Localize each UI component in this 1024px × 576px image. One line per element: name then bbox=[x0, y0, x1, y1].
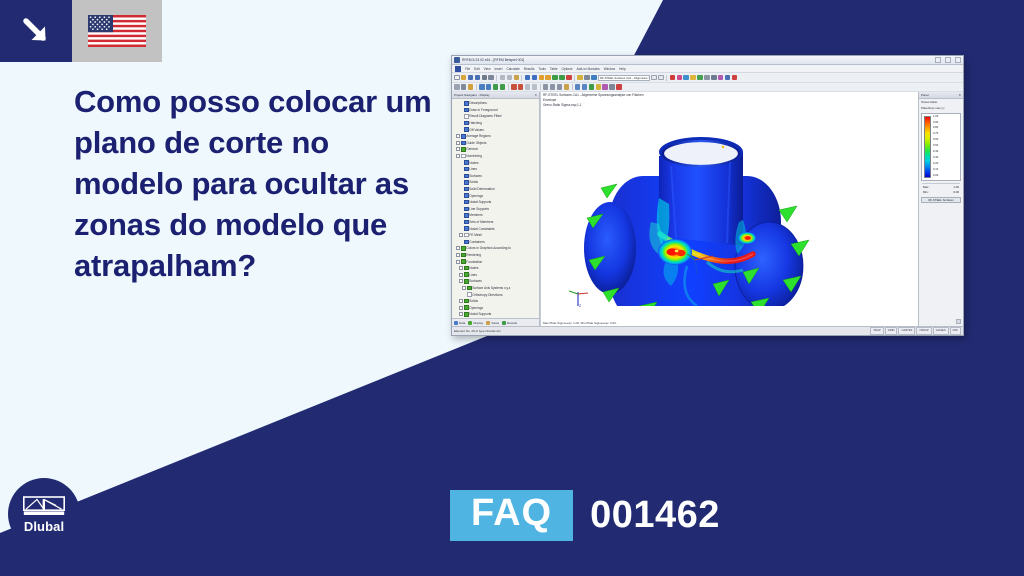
save-icon[interactable] bbox=[468, 75, 474, 81]
menu-item-file[interactable]: File bbox=[465, 67, 470, 71]
tree-item-label: Openings bbox=[469, 306, 483, 310]
svg-text:Z: Z bbox=[579, 304, 581, 308]
tree-item[interactable]: Numbering bbox=[453, 153, 539, 160]
tree-checkbox[interactable] bbox=[464, 312, 469, 317]
panel-title: Panel bbox=[921, 93, 929, 97]
print-icon[interactable] bbox=[482, 75, 488, 81]
status-toggle-snap[interactable]: SNAP bbox=[870, 327, 883, 335]
line-icon[interactable] bbox=[468, 84, 474, 90]
menu-item-window[interactable]: Window bbox=[604, 67, 615, 71]
tree-checkbox[interactable] bbox=[461, 147, 466, 152]
status-bar: Element No. 29 of type Circular Arc SNAP… bbox=[452, 326, 963, 335]
ortho-icon[interactable] bbox=[589, 84, 595, 90]
visibility-icon[interactable] bbox=[718, 75, 724, 81]
tree-checkbox[interactable] bbox=[461, 259, 466, 264]
dimension-icon[interactable] bbox=[609, 84, 615, 90]
tree-item[interactable]: Orthotropy Directions bbox=[453, 291, 539, 298]
tree-item[interactable]: Nodes bbox=[453, 159, 539, 166]
us-flag-icon bbox=[88, 15, 146, 47]
dlubal-logo[interactable]: Dlubal bbox=[8, 478, 80, 550]
navigator-tree[interactable]: DescriptionsDraw in ForegroundResult Dia… bbox=[452, 99, 539, 318]
tree-expander-icon[interactable] bbox=[459, 279, 463, 283]
status-toggle-glines[interactable]: GLINES bbox=[933, 327, 949, 335]
open-icon[interactable] bbox=[461, 75, 467, 81]
view-top-icon[interactable] bbox=[550, 84, 556, 90]
tree-expander-icon[interactable] bbox=[459, 233, 463, 237]
redo-icon[interactable] bbox=[532, 75, 538, 81]
tree-item[interactable]: Containers bbox=[453, 238, 539, 245]
tree-item[interactable]: General bbox=[453, 146, 539, 153]
status-toggle-osnap[interactable]: OSNAP bbox=[916, 327, 931, 335]
mesh-icon[interactable] bbox=[525, 84, 531, 90]
menu-item-help[interactable]: Help bbox=[619, 67, 626, 71]
grid-icon[interactable] bbox=[575, 84, 581, 90]
legend-min-row: Min : 0.00 bbox=[922, 189, 960, 194]
close-button[interactable] bbox=[955, 57, 961, 63]
combo-prev-icon[interactable] bbox=[651, 75, 657, 81]
language-badge[interactable] bbox=[0, 0, 162, 62]
tree-item-label: FE Mesh bbox=[469, 233, 482, 237]
rfem-application-window[interactable]: RFEM 5.23.02 x64 - [RFEM Beispiel 001] F… bbox=[451, 55, 964, 336]
slide-canvas: Como posso colocar um plano de corte no … bbox=[0, 0, 1024, 576]
toolbar-separator bbox=[521, 75, 522, 81]
tree-checkbox[interactable] bbox=[464, 272, 469, 277]
tree-expander-icon[interactable] bbox=[456, 246, 460, 250]
app-icon bbox=[454, 57, 460, 63]
toolbar-separator bbox=[508, 84, 509, 90]
tree-checkbox[interactable] bbox=[464, 101, 469, 106]
menu-item-calculate[interactable]: Calculate bbox=[506, 67, 519, 71]
tree-checkbox[interactable] bbox=[464, 305, 469, 310]
tree-expander-icon[interactable] bbox=[459, 273, 463, 277]
tree-checkbox[interactable] bbox=[464, 167, 469, 172]
tree-item[interactable]: Nodal Constraints bbox=[453, 225, 539, 232]
tree-item-label: Surface Axis Systems x,y,z bbox=[472, 286, 510, 290]
save-all-icon[interactable] bbox=[475, 75, 481, 81]
panel-resize-handle[interactable] bbox=[956, 319, 961, 324]
application-body: Project Navigator - Display ✕ Descriptio… bbox=[452, 92, 963, 326]
tree-checkbox[interactable] bbox=[464, 193, 469, 198]
tree-checkbox[interactable] bbox=[464, 114, 469, 119]
tree-item[interactable]: Sets of Members bbox=[453, 219, 539, 226]
tree-item-label: Guide Objects bbox=[466, 141, 486, 145]
legend-tick-label: 0.70 bbox=[933, 133, 938, 136]
tree-item[interactable]: Surface Axis Systems x,y,z bbox=[453, 285, 539, 292]
tree-expander-icon[interactable] bbox=[456, 141, 460, 145]
tree-checkbox[interactable] bbox=[467, 292, 472, 297]
tree-item[interactable]: Result Diagrams Filled bbox=[453, 113, 539, 120]
guideline-icon[interactable] bbox=[602, 84, 608, 90]
rotate-icon[interactable] bbox=[566, 75, 572, 81]
tree-item-label: Nodes bbox=[469, 266, 478, 270]
tree-item-label: Surfaces bbox=[469, 174, 482, 178]
results-panel[interactable]: Panel ✕ Stress Ratio Plate/Incp.max [-] … bbox=[918, 92, 963, 326]
navigator-tab-label: Data bbox=[459, 321, 465, 325]
zoom-in-icon[interactable] bbox=[539, 75, 545, 81]
legend-tick-label: 0.20 bbox=[933, 163, 938, 166]
status-text: Element No. 29 of type Circular Arc bbox=[454, 329, 501, 333]
data-icon bbox=[454, 321, 458, 325]
menu-bar[interactable]: File Edit View Insert Calculate Results … bbox=[452, 65, 963, 73]
tree-item-label: Result Diagrams Filled bbox=[469, 114, 501, 118]
faq-number: 001462 bbox=[590, 496, 720, 536]
solid-icon[interactable] bbox=[486, 84, 492, 90]
menu-item-addon-modules[interactable]: Add-on Modules bbox=[577, 67, 600, 71]
tree-checkbox[interactable] bbox=[464, 127, 469, 132]
support-icon[interactable] bbox=[500, 84, 506, 90]
tree-item-label: Average Regions bbox=[466, 134, 490, 138]
tree-item[interactable]: Hatching bbox=[453, 120, 539, 127]
toolbar-separator bbox=[666, 75, 667, 81]
legend-value-labels: 1.000.900.800.700.600.500.400.300.200.10… bbox=[933, 116, 938, 178]
menu-item-view[interactable]: View bbox=[484, 67, 491, 71]
snap-icon[interactable] bbox=[582, 84, 588, 90]
tree-item-label: Solids bbox=[469, 180, 478, 184]
navigator-title: Project Navigator - Display bbox=[454, 93, 490, 97]
faq-badge: FAQ bbox=[450, 490, 573, 541]
refine-mesh-icon[interactable] bbox=[532, 84, 538, 90]
select-icon[interactable] bbox=[454, 84, 460, 90]
pipe-tee-stress-contour bbox=[547, 126, 837, 306]
window-titlebar[interactable]: RFEM 5.23.02 x64 - [RFEM Beispiel 001] bbox=[452, 56, 963, 65]
left-cap bbox=[584, 202, 636, 294]
tree-item[interactable]: Rendering bbox=[453, 252, 539, 259]
menu-item-insert[interactable]: Insert bbox=[495, 67, 503, 71]
paste-icon[interactable] bbox=[514, 75, 520, 81]
tree-item-label: Lines bbox=[469, 167, 477, 171]
cut-icon[interactable] bbox=[500, 75, 506, 81]
tree-item[interactable]: Nodal Supports bbox=[453, 199, 539, 206]
navigator-tab-data[interactable]: Data bbox=[454, 321, 465, 325]
tree-item[interactable]: Nodes bbox=[453, 265, 539, 272]
legend-tick-label: 0.90 bbox=[933, 122, 938, 125]
model-viewport[interactable]: RF-STEEL Surfaces CA1 - Allgemeine Spann… bbox=[540, 92, 918, 326]
caption-line-3: Grenz-Ratio Sigma-eqv,1,1 bbox=[543, 103, 644, 108]
tree-item[interactable]: Nodal Supports bbox=[453, 311, 539, 318]
legend-tick-label: 0.40 bbox=[933, 151, 938, 154]
tree-item-label: Numbering bbox=[466, 154, 482, 158]
tree-checkbox[interactable] bbox=[464, 240, 469, 245]
tree-checkbox[interactable] bbox=[464, 266, 469, 271]
tree-item-label: Rendering bbox=[466, 253, 481, 257]
tree-item[interactable]: Solids bbox=[453, 298, 539, 305]
member-icon[interactable] bbox=[493, 84, 499, 90]
tree-checkbox[interactable] bbox=[464, 121, 469, 126]
toolbar-separator bbox=[574, 75, 575, 81]
surface-icon[interactable] bbox=[479, 84, 485, 90]
panel-subtitle-2: Plate/Incp.max [-] bbox=[919, 105, 963, 111]
project-navigator[interactable]: Project Navigator - Display ✕ Descriptio… bbox=[452, 92, 540, 326]
tree-checkbox[interactable] bbox=[464, 160, 469, 165]
view-front-icon[interactable] bbox=[543, 84, 549, 90]
nodal-load-icon[interactable] bbox=[518, 84, 524, 90]
legend-tick-label: 0.30 bbox=[933, 157, 938, 160]
tree-expander-icon[interactable] bbox=[462, 286, 466, 290]
tree-item-label: Draw in Foreground bbox=[469, 108, 497, 112]
results-deform-icon[interactable] bbox=[670, 75, 676, 81]
tree-item-label: Openings bbox=[469, 194, 483, 198]
toolbar-row-2[interactable] bbox=[452, 83, 963, 92]
navigator-tab-display[interactable]: Display bbox=[468, 321, 483, 325]
panel-close-icon[interactable]: ✕ bbox=[958, 93, 961, 97]
tree-item-label: Hatching bbox=[469, 121, 482, 125]
toolbar-row-1[interactable]: RF-STEEL Surfaces CA1 - Allgemeine Sp bbox=[452, 73, 963, 83]
zoom-all-icon[interactable] bbox=[552, 75, 558, 81]
navigator-tab-label: Results bbox=[507, 321, 517, 325]
print-preview-icon[interactable] bbox=[488, 75, 494, 81]
undo-icon[interactable] bbox=[525, 75, 531, 81]
results-contour-icon[interactable] bbox=[683, 75, 689, 81]
tree-expander-icon[interactable] bbox=[459, 299, 463, 303]
views-icon bbox=[486, 321, 490, 325]
toolbar-separator bbox=[496, 75, 497, 81]
window-title: RFEM 5.23.02 x64 - [RFEM Beispiel 001] bbox=[462, 58, 524, 62]
status-toggle-dxf[interactable]: DXF bbox=[950, 327, 961, 335]
tree-expander-icon[interactable] bbox=[456, 253, 460, 257]
tree-item[interactable]: Lines bbox=[453, 166, 539, 173]
menu-item-table[interactable]: Table bbox=[550, 67, 558, 71]
tree-checkbox[interactable] bbox=[464, 233, 469, 238]
results-isolines-icon[interactable] bbox=[690, 75, 696, 81]
tree-checkbox[interactable] bbox=[461, 246, 466, 251]
tree-item-label: Nodal Supports bbox=[469, 200, 491, 204]
tree-item-label: Solid Deformation bbox=[469, 187, 494, 191]
caption-line-1: RF-STEEL Surfaces CA1 - Allgemeine Spann… bbox=[543, 93, 644, 98]
tree-item[interactable]: Line Supports bbox=[453, 206, 539, 213]
node-icon[interactable] bbox=[461, 84, 467, 90]
tree-item[interactable]: FE Mesh bbox=[453, 232, 539, 239]
combo-next-icon[interactable] bbox=[658, 75, 664, 81]
navigator-tab-results[interactable]: Results bbox=[502, 321, 517, 325]
faq-footer: FAQ 001462 bbox=[450, 490, 720, 541]
tree-item[interactable]: Openings bbox=[453, 192, 539, 199]
tree-item[interactable]: Lines bbox=[453, 271, 539, 278]
tree-item[interactable]: Off Values bbox=[453, 126, 539, 133]
tree-item-label: Containers bbox=[469, 240, 484, 244]
maximize-button[interactable] bbox=[945, 57, 951, 63]
tree-checkbox[interactable] bbox=[464, 207, 469, 212]
load-icon[interactable] bbox=[511, 84, 517, 90]
logo-text: Dlubal bbox=[24, 520, 64, 533]
panel-header: Panel ✕ bbox=[919, 92, 963, 99]
tree-item-label: Line Supports bbox=[469, 207, 489, 211]
tree-checkbox[interactable] bbox=[464, 200, 469, 205]
tree-checkbox[interactable] bbox=[464, 279, 469, 284]
tree-item[interactable]: Guide Objects bbox=[453, 140, 539, 147]
display-icon bbox=[468, 321, 472, 325]
results-icon bbox=[502, 321, 506, 325]
legend-min-label: Min : bbox=[923, 190, 929, 194]
legend-tick-label: 1.00 bbox=[933, 116, 938, 119]
results-stress-icon[interactable] bbox=[677, 75, 683, 81]
tree-checkbox[interactable] bbox=[464, 108, 469, 113]
arrow-box bbox=[0, 0, 72, 62]
tree-expander-icon[interactable] bbox=[459, 266, 463, 270]
printout-report-icon[interactable] bbox=[725, 75, 731, 81]
loadcase-combo[interactable]: RF-STEEL Surfaces CA1 - Allgemeine Sp bbox=[598, 75, 650, 81]
navigator-tab-label: Display bbox=[473, 321, 483, 325]
wireframe-icon[interactable] bbox=[584, 75, 590, 81]
flag-box bbox=[72, 0, 162, 62]
legend-gradient-bar bbox=[924, 116, 931, 178]
navigator-header: Project Navigator - Display ✕ bbox=[452, 92, 539, 99]
results-values-icon[interactable] bbox=[697, 75, 703, 81]
tree-item-label: Surfaces bbox=[469, 279, 482, 283]
pan-icon[interactable] bbox=[559, 75, 565, 81]
legend-max-value: 1.00 bbox=[953, 185, 959, 189]
tree-item-label: Members bbox=[469, 213, 482, 217]
tree-item-label: Sets of Members bbox=[469, 220, 493, 224]
legend-minmax: Max : 1.00 Min : 0.00 bbox=[922, 183, 960, 195]
tree-expander-icon[interactable] bbox=[456, 134, 460, 138]
minimize-button[interactable] bbox=[935, 57, 941, 63]
tree-checkbox[interactable] bbox=[464, 299, 469, 304]
viewport-status: Max Plate Sigma-eqv: 1.00, Min Plate Sig… bbox=[543, 321, 618, 325]
tree-expander-icon[interactable] bbox=[459, 312, 463, 316]
navigator-tabs[interactable]: Data Display Views Results bbox=[452, 318, 539, 326]
object-snap-icon[interactable] bbox=[596, 84, 602, 90]
tree-item-label: Orthotropy Directions bbox=[472, 293, 502, 297]
menu-item-options[interactable]: Options bbox=[562, 67, 573, 71]
tree-checkbox[interactable] bbox=[464, 174, 469, 179]
section-icon[interactable] bbox=[704, 75, 710, 81]
arrow-down-right-icon bbox=[19, 14, 53, 48]
tree-item[interactable]: Descriptions bbox=[453, 100, 539, 107]
tree-checkbox[interactable] bbox=[467, 286, 472, 291]
view-side-icon[interactable] bbox=[557, 84, 563, 90]
copy-icon[interactable] bbox=[507, 75, 513, 81]
status-toggle-cartes[interactable]: CARTES bbox=[898, 327, 915, 335]
legend-tick-label: 0.50 bbox=[933, 145, 938, 148]
navigator-tab-views[interactable]: Views bbox=[486, 321, 499, 325]
tree-item[interactable]: Openings bbox=[453, 304, 539, 311]
tree-checkbox[interactable] bbox=[461, 134, 466, 139]
delete-icon[interactable] bbox=[616, 84, 622, 90]
color-legend[interactable]: 1.000.900.800.700.600.500.400.300.200.10… bbox=[921, 113, 961, 181]
tree-item[interactable]: Draw in Foreground bbox=[453, 107, 539, 114]
tree-item-label: General bbox=[466, 147, 477, 151]
tree-item[interactable]: Average Regions bbox=[453, 133, 539, 140]
toolbar-separator bbox=[540, 84, 541, 90]
tree-item-label: Foundation bbox=[466, 260, 482, 264]
tree-item-label: Off Values bbox=[469, 128, 484, 132]
tree-item-label: Solids bbox=[469, 299, 478, 303]
tree-item-label: Nodes bbox=[469, 161, 478, 165]
legend-tick-label: 0.10 bbox=[933, 169, 938, 172]
tree-expander-icon[interactable] bbox=[456, 260, 460, 264]
tree-checkbox[interactable] bbox=[464, 226, 469, 231]
tree-checkbox[interactable] bbox=[461, 154, 466, 159]
global-axis-indicator: Z bbox=[567, 288, 589, 308]
tree-checkbox[interactable] bbox=[464, 213, 469, 218]
tree-item[interactable]: Foundation bbox=[453, 258, 539, 265]
tree-expander-icon[interactable] bbox=[459, 306, 463, 310]
tree-checkbox[interactable] bbox=[461, 253, 466, 258]
render-icon[interactable] bbox=[577, 75, 583, 81]
tree-item[interactable]: Colors in Graphics According to bbox=[453, 245, 539, 252]
tree-item-label: Colors in Graphics According to bbox=[466, 246, 511, 250]
tree-checkbox[interactable] bbox=[461, 141, 466, 146]
page-title: Como posso colocar um plano de corte no … bbox=[74, 82, 434, 287]
tree-checkbox[interactable] bbox=[464, 180, 469, 185]
menu-item-edit[interactable]: Edit bbox=[474, 67, 480, 71]
truss-bridge-icon bbox=[23, 496, 65, 518]
viewport-caption: RF-STEEL Surfaces CA1 - Allgemeine Spann… bbox=[543, 93, 644, 107]
fea-stress-model[interactable] bbox=[547, 126, 837, 306]
status-toggle-grid[interactable]: GRID bbox=[885, 327, 898, 335]
tree-item-label: Nodal Supports bbox=[469, 312, 491, 316]
help-icon[interactable] bbox=[732, 75, 738, 81]
legend-tick-label: 0.60 bbox=[933, 139, 938, 142]
tree-item[interactable]: Surfaces bbox=[453, 173, 539, 180]
tree-item[interactable]: Surfaces bbox=[453, 278, 539, 285]
menu-item-results[interactable]: Results bbox=[524, 67, 535, 71]
view-iso-icon[interactable] bbox=[564, 84, 570, 90]
tree-item[interactable]: Solid Deformation bbox=[453, 186, 539, 193]
tree-item-label: Lines bbox=[469, 273, 477, 277]
panel-module-button[interactable]: RF-STEEL Surfaces bbox=[921, 197, 961, 203]
legend-min-value: 0.00 bbox=[953, 190, 959, 194]
legend-max-label: Max : bbox=[923, 185, 930, 189]
tree-checkbox[interactable] bbox=[464, 187, 469, 192]
status-toggles[interactable]: SNAPGRIDCARTESOSNAPGLINESDXF bbox=[870, 327, 961, 335]
navigator-tab-label: Views bbox=[491, 321, 499, 325]
legend-tick-label: 0.80 bbox=[933, 127, 938, 130]
menu-item-tools[interactable]: Tools bbox=[538, 67, 545, 71]
calculate-icon[interactable] bbox=[591, 75, 597, 81]
window-controls[interactable] bbox=[935, 57, 961, 63]
node-marker bbox=[722, 146, 724, 148]
toolbar-separator bbox=[476, 84, 477, 90]
tree-expander-icon[interactable] bbox=[456, 147, 460, 151]
zoom-out-icon[interactable] bbox=[545, 75, 551, 81]
tree-item-label: Descriptions bbox=[469, 101, 487, 105]
legend-tick-label: 0.00 bbox=[933, 175, 938, 178]
navigator-close-icon[interactable]: ✕ bbox=[534, 93, 537, 97]
toolbar-separator bbox=[572, 84, 573, 90]
tree-checkbox[interactable] bbox=[464, 220, 469, 225]
new-icon[interactable] bbox=[454, 75, 460, 81]
clipping-plane-icon[interactable] bbox=[711, 75, 717, 81]
tree-item[interactable]: Solids bbox=[453, 179, 539, 186]
tree-item-label: Nodal Constraints bbox=[469, 227, 494, 231]
tree-expander-icon[interactable] bbox=[456, 154, 460, 158]
menu-app-icon bbox=[455, 66, 461, 72]
tree-item[interactable]: Members bbox=[453, 212, 539, 219]
